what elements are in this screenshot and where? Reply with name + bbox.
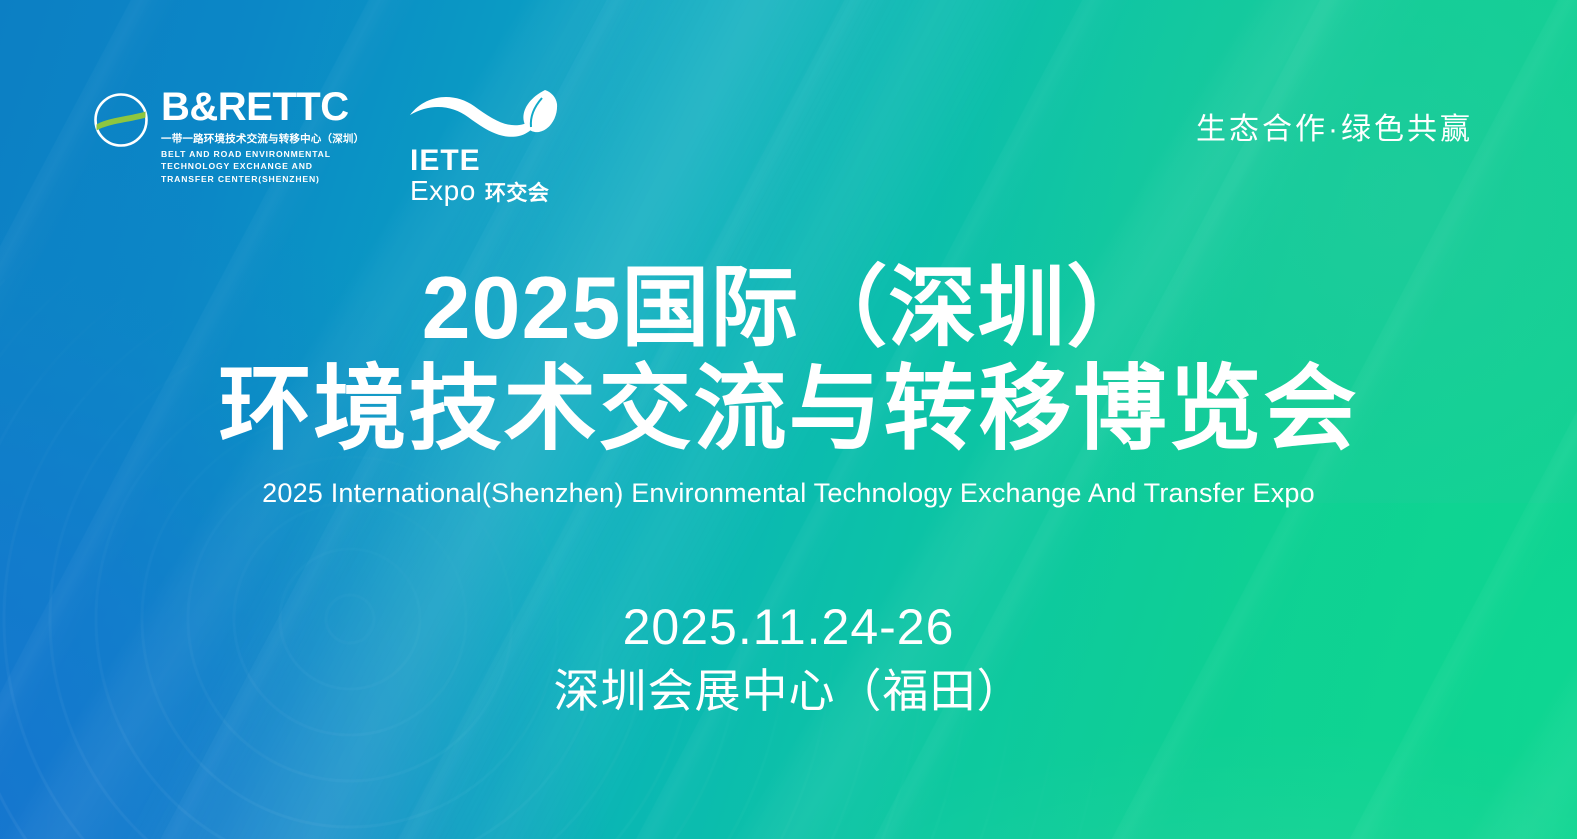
iete-expo-logo: IETE Expo 环交会 <box>408 88 563 205</box>
banner-content: B&RETTC 一带一路环境技术交流与转移中心（深圳） BELT AND ROA… <box>0 0 1577 839</box>
event-banner: B&RETTC 一带一路环境技术交流与转移中心（深圳） BELT AND ROA… <box>0 0 1577 839</box>
english-subtitle: 2025 International(Shenzhen) Environment… <box>0 478 1577 509</box>
logo-row: B&RETTC 一带一路环境技术交流与转移中心（深圳） BELT AND ROA… <box>92 88 563 205</box>
brettc-title: B&RETTC <box>161 88 366 127</box>
title-line-2: 环境技术交流与转移博览会 <box>0 360 1577 459</box>
leaf-swoosh-icon <box>408 88 563 144</box>
brettc-logo: B&RETTC 一带一路环境技术交流与转移中心（深圳） BELT AND ROA… <box>92 88 366 185</box>
event-date: 2025.11.24-26 <box>0 600 1577 655</box>
title-line-1: 2025国际（深圳） <box>0 262 1577 354</box>
brettc-chinese-name: 一带一路环境技术交流与转移中心（深圳） <box>161 131 366 146</box>
iete-name: IETE <box>410 144 481 177</box>
iete-subline: Expo 环交会 <box>410 177 549 205</box>
brettc-text-block: B&RETTC 一带一路环境技术交流与转移中心（深圳） BELT AND ROA… <box>161 88 366 185</box>
brettc-english-name: BELT AND ROAD ENVIRONMENTAL TECHNOLOGY E… <box>161 148 366 185</box>
slogan: 生态合作·绿色共赢 <box>1196 104 1473 148</box>
event-venue: 深圳会展中心（福田） <box>0 665 1577 718</box>
event-info-block: 2025.11.24-26 深圳会展中心（福田） <box>0 600 1577 718</box>
iete-chinese-label: 环交会 <box>485 183 550 204</box>
globe-circle-icon <box>92 91 150 149</box>
iete-expo-label: Expo <box>410 177 476 205</box>
title-block: 2025国际（深圳） 环境技术交流与转移博览会 2025 Internation… <box>0 262 1577 509</box>
iete-wordmark: IETE Expo 环交会 <box>410 146 549 205</box>
